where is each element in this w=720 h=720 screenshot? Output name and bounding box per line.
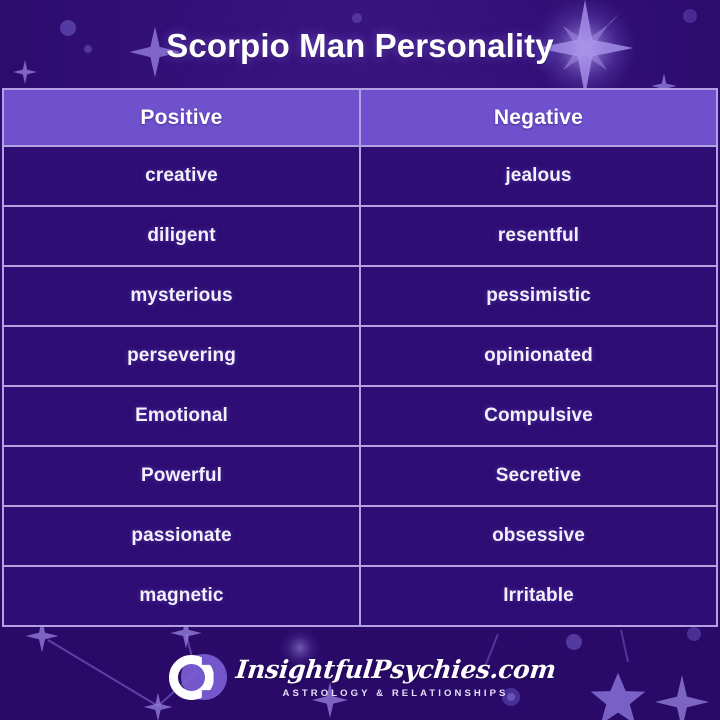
column-header-positive: Positive (3, 89, 360, 146)
table-row: magnetic Irritable (3, 566, 717, 626)
cell-negative: Compulsive (360, 386, 717, 446)
cell-negative: resentful (360, 206, 717, 266)
poster-title-container: Scorpio Man Personality (0, 26, 720, 66)
cell-positive: mysterious (3, 266, 360, 326)
cell-negative: pessimistic (360, 266, 717, 326)
personality-traits-table: Positive Negative creative jealous dilig… (2, 88, 718, 627)
table-row: Powerful Secretive (3, 446, 717, 506)
brand-name: InsightfulPsychies.com (234, 656, 557, 684)
cell-positive: persevering (3, 326, 360, 386)
cell-negative: Irritable (360, 566, 717, 626)
table-row: passionate obsessive (3, 506, 717, 566)
circle-ring-icon (165, 647, 227, 709)
brand-tagline: ASTROLOGY & RELATIONSHIPS (283, 687, 509, 701)
table-row: mysterious pessimistic (3, 266, 717, 326)
cell-positive: Powerful (3, 446, 360, 506)
cell-negative: obsessive (360, 506, 717, 566)
cell-positive: passionate (3, 506, 360, 566)
cell-positive: diligent (3, 206, 360, 266)
column-header-negative: Negative (360, 89, 717, 146)
table-body: creative jealous diligent resentful myst… (3, 146, 717, 626)
brand-text-block: InsightfulPsychies.com ASTROLOGY & RELAT… (236, 656, 556, 701)
table-header-row: Positive Negative (3, 89, 717, 146)
table-row: Emotional Compulsive (3, 386, 717, 446)
table-head: Positive Negative (3, 89, 717, 146)
cell-positive: magnetic (3, 566, 360, 626)
table-row: persevering opinionated (3, 326, 717, 386)
page-title: Scorpio Man Personality (166, 26, 553, 66)
table-row: diligent resentful (3, 206, 717, 266)
cell-negative: jealous (360, 146, 717, 206)
cell-positive: Emotional (3, 386, 360, 446)
poster-canvas: Scorpio Man Personality Positive Negativ… (0, 0, 720, 720)
cell-negative: opinionated (360, 326, 717, 386)
footer-branding: InsightfulPsychies.com ASTROLOGY & RELAT… (0, 636, 720, 720)
cell-negative: Secretive (360, 446, 717, 506)
table-row: creative jealous (3, 146, 717, 206)
cell-positive: creative (3, 146, 360, 206)
